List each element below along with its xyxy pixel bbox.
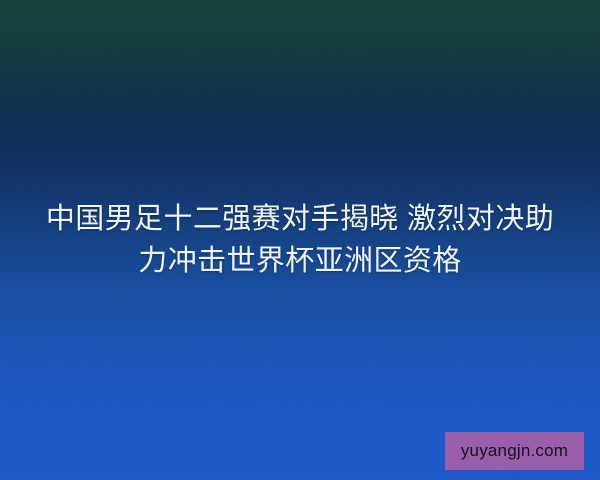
watermark-label: yuyangjn.com [461,441,568,461]
watermark-badge: yuyangjn.com [445,432,584,470]
news-title-card: 中国男足十二强赛对手揭晓 激烈对决助 力冲击世界杯亚洲区资格 yuyangjn.… [0,0,600,480]
page-title: 中国男足十二强赛对手揭晓 激烈对决助 力冲击世界杯亚洲区资格 [0,198,600,282]
